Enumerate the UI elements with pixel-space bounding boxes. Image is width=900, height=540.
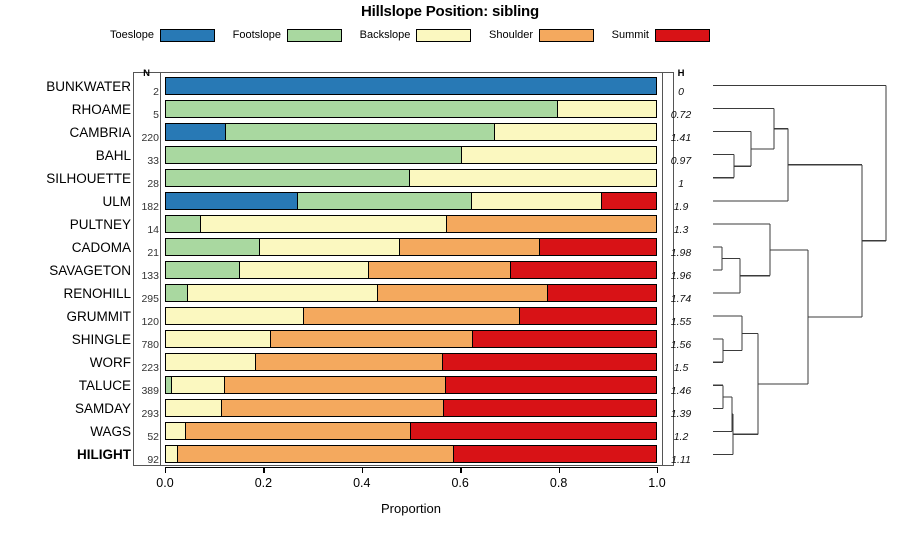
bar-segment-shoulder [255,354,441,370]
n-value: 33 [134,155,159,167]
x-axis-tick-label: 0.8 [539,476,579,490]
row-label-cadoma[interactable]: CADOMA [1,241,131,255]
row-label-grummit[interactable]: GRUMMIT [1,310,131,324]
row-label-bunkwater[interactable]: BUNKWATER [1,80,131,94]
column-divider-left [160,72,161,466]
bar-segment-backslope [166,400,221,416]
row-label-column: BUNKWATERRHOAMECAMBRIABAHLSILHOUETTEULMP… [0,0,131,540]
row-label-worf[interactable]: WORF [1,356,131,370]
bar-segment-backslope [166,308,303,324]
bar-segment-summit [442,354,656,370]
legend-swatch-icon [655,29,710,42]
row-label-ulm[interactable]: ULM [1,195,131,209]
n-value: 223 [134,362,159,374]
bar-segment-shoulder [270,331,473,347]
stacked-bar[interactable] [165,399,657,417]
n-column-header: N [134,68,159,79]
bar-segment-backslope [166,446,177,462]
bar-segment-footslope [166,216,200,232]
n-value: 2 [134,86,159,98]
bar-segment-backslope [166,423,185,439]
legend-item-backslope[interactable]: Backslope [360,29,472,42]
row-label-samday[interactable]: SAMDAY [1,402,131,416]
row-label-taluce[interactable]: TALUCE [1,379,131,393]
bar-segment-summit [519,308,656,324]
legend-item-footslope[interactable]: Footslope [233,29,342,42]
n-value: 92 [134,454,159,466]
row-label-cambria[interactable]: CAMBRIA [1,126,131,140]
bar-segment-shoulder [399,239,539,255]
x-axis-tick [460,467,461,473]
n-value: 389 [134,385,159,397]
n-value: 120 [134,316,159,328]
page-title: Hillslope Position: sibling [0,3,900,20]
bar-segment-footslope [166,239,259,255]
row-label-wags[interactable]: WAGS [1,425,131,439]
n-value: 5 [134,109,159,121]
bar-segment-summit [539,239,656,255]
legend-label: Backslope [360,29,411,41]
bar-segment-backslope [171,377,225,393]
legend: Toeslope Footslope Backslope Shoulder Su… [110,27,710,43]
x-axis-tick [657,467,658,473]
bar-segment-shoulder [368,262,510,278]
legend-label: Shoulder [489,29,533,41]
legend-swatch-icon [160,29,215,42]
stacked-bar[interactable] [165,353,657,371]
bar-segment-footslope [166,101,557,117]
legend-item-summit[interactable]: Summit [612,29,710,42]
stacked-bar[interactable] [165,261,657,279]
row-label-rhoame[interactable]: RHOAME [1,103,131,117]
bar-segment-shoulder [177,446,453,462]
stacked-bar[interactable] [165,422,657,440]
row-label-bahl[interactable]: BAHL [1,149,131,163]
bar-segment-summit [453,446,656,462]
row-label-pultney[interactable]: PULTNEY [1,218,131,232]
bar-segment-footslope [166,285,187,301]
bar-segment-toeslope [166,124,225,140]
stacked-bar[interactable] [165,307,657,325]
legend-label: Summit [612,29,649,41]
stacked-bar[interactable] [165,445,657,463]
bar-segment-backslope [239,262,368,278]
x-axis-tick [362,467,363,473]
bar-segment-backslope [471,193,602,209]
bar-segment-footslope [166,170,409,186]
stacked-bar[interactable] [165,376,657,394]
legend-swatch-icon [539,29,594,42]
stacked-bar[interactable] [165,146,657,164]
bar-segment-shoulder [185,423,410,439]
bar-segment-shoulder [224,377,445,393]
n-value: 780 [134,339,159,351]
n-value: 133 [134,270,159,282]
chart-root: Hillslope Position: sibling Toeslope Foo… [0,0,900,540]
x-axis-tick [165,467,166,473]
bar-segment-footslope [166,262,239,278]
stacked-bar[interactable] [165,169,657,187]
n-value: 14 [134,224,159,236]
stacked-bar[interactable] [165,77,657,95]
stacked-bar[interactable] [165,192,657,210]
bar-segment-summit [410,423,656,439]
x-axis-title: Proportion [165,501,657,516]
row-label-shingle[interactable]: SHINGLE [1,333,131,347]
stacked-bar[interactable] [165,238,657,256]
row-label-renohill[interactable]: RENOHILL [1,287,131,301]
stacked-bar[interactable] [165,100,657,118]
bar-segment-footslope [225,124,495,140]
bar-segment-footslope [297,193,471,209]
x-axis-tick-label: 1.0 [637,476,677,490]
bar-segment-backslope [494,124,656,140]
dendrogram [690,60,900,480]
stacked-bar[interactable] [165,284,657,302]
row-label-silhouette[interactable]: SILHOUETTE [1,172,131,186]
n-value: 220 [134,132,159,144]
bar-segment-summit [510,262,656,278]
bar-segment-backslope [259,239,399,255]
bar-segment-backslope [557,101,656,117]
x-axis-tick [263,467,264,473]
bar-segment-shoulder [377,285,547,301]
bar-segment-backslope [166,354,255,370]
bar-segment-shoulder [446,216,656,232]
bar-segment-backslope [409,170,656,186]
n-value: 182 [134,201,159,213]
bar-segment-summit [547,285,656,301]
x-axis-tick [559,467,560,473]
n-value: 21 [134,247,159,259]
n-value: 28 [134,178,159,190]
x-axis-tick-label: 0.4 [342,476,382,490]
bar-segment-summit [472,331,656,347]
bar-segment-toeslope [166,193,297,209]
bar-segment-summit [601,193,656,209]
bar-segment-shoulder [221,400,443,416]
bar-segment-backslope [187,285,377,301]
legend-item-shoulder[interactable]: Shoulder [489,29,594,42]
x-axis-tick-label: 0.2 [243,476,283,490]
bar-segment-backslope [166,331,270,347]
x-axis-tick-label: 0.0 [145,476,185,490]
n-value: 293 [134,408,159,420]
bar-segment-summit [443,400,656,416]
x-axis-tick-label: 0.6 [440,476,480,490]
n-value: 52 [134,431,159,443]
legend-swatch-icon [287,29,342,42]
bar-segment-backslope [200,216,446,232]
stacked-bar[interactable] [165,330,657,348]
bar-segment-shoulder [303,308,519,324]
x-axis-line [165,467,657,468]
stacked-bar[interactable] [165,215,657,233]
bar-segment-toeslope [166,78,656,94]
row-label-savageton[interactable]: SAVAGETON [1,264,131,278]
legend-label: Footslope [233,29,281,41]
bar-segment-footslope [166,147,461,163]
bar-segment-summit [445,377,656,393]
bar-segment-backslope [461,147,656,163]
legend-swatch-icon [416,29,471,42]
n-value: 295 [134,293,159,305]
row-label-hilight[interactable]: HILIGHT [1,448,131,462]
stacked-bar[interactable] [165,123,657,141]
